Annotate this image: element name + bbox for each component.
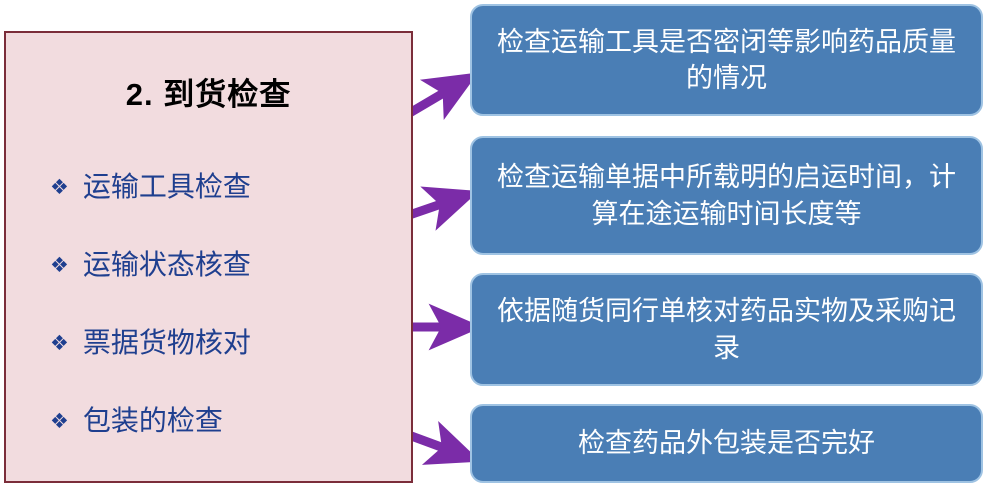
list-item-label: 运输状态核查 <box>83 251 251 279</box>
list-item[interactable]: ❖ 包装的检查 <box>50 407 223 435</box>
diamond-bullet-icon: ❖ <box>50 333 69 354</box>
diamond-bullet-icon: ❖ <box>50 411 69 432</box>
list-item-label: 包装的检查 <box>83 407 223 435</box>
list-item[interactable]: ❖ 运输状态核查 <box>50 251 251 279</box>
detail-box-3-text: 依据随货同行单核对药品实物及采购记录 <box>494 293 959 365</box>
diamond-bullet-icon: ❖ <box>50 177 69 198</box>
detail-box-4[interactable]: 检查药品外包装是否完好 <box>470 404 983 483</box>
diamond-bullet-icon: ❖ <box>50 255 69 276</box>
list-item-label: 票据货物核对 <box>83 329 251 357</box>
detail-box-2-text: 检查运输单据中所载明的启运时间，计算在途运输时间长度等 <box>494 159 959 231</box>
detail-box-3[interactable]: 依据随货同行单核对药品实物及采购记录 <box>470 273 983 386</box>
detail-box-2[interactable]: 检查运输单据中所载明的启运时间，计算在途运输时间长度等 <box>470 136 983 255</box>
detail-box-4-text: 检查药品外包装是否完好 <box>578 425 875 461</box>
list-item[interactable]: ❖ 运输工具检查 <box>50 173 251 201</box>
stage-panel: 2. 到货检查 ❖ 运输工具检查 ❖ 运输状态核查 ❖ 票据货物核对 ❖ 包装的… <box>4 31 413 483</box>
list-item[interactable]: ❖ 票据货物核对 <box>50 329 251 357</box>
list-item-label: 运输工具检查 <box>83 173 251 201</box>
detail-box-1[interactable]: 检查运输工具是否密闭等影响药品质量的情况 <box>470 4 983 116</box>
detail-box-1-text: 检查运输工具是否密闭等影响药品质量的情况 <box>494 24 959 96</box>
page-title: 2. 到货检查 <box>6 69 411 114</box>
